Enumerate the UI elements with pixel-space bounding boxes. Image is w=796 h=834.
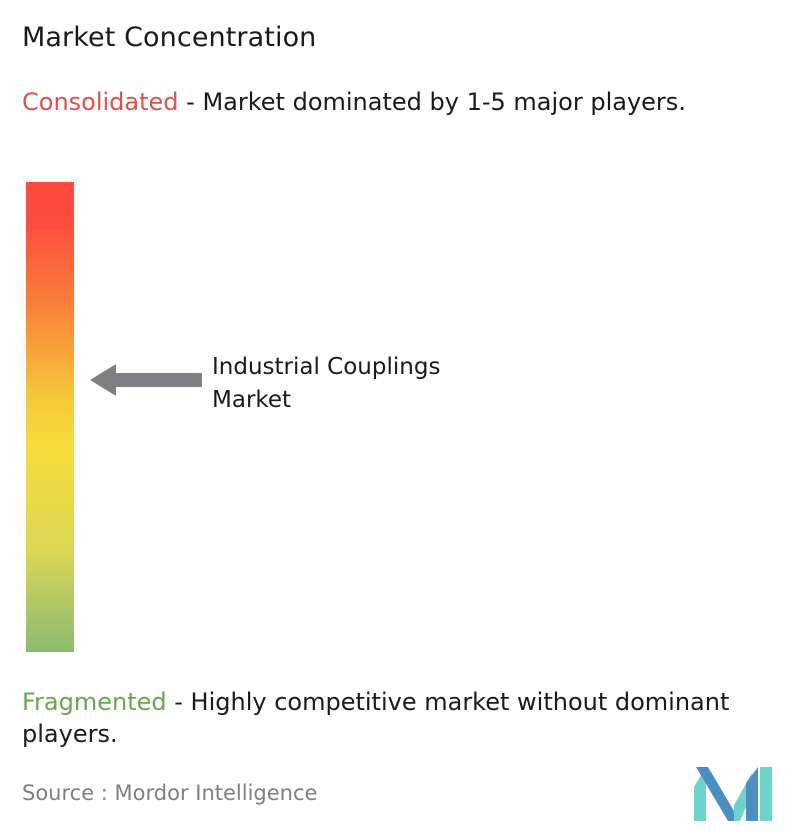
marker-left-arrow-icon (90, 362, 202, 398)
concentration-spectrum-bar (26, 182, 74, 652)
legend-consolidated: Consolidated - Market dominated by 1-5 m… (22, 86, 782, 118)
legend-fragmented-term: Fragmented (22, 688, 167, 716)
mordor-intelligence-logo-icon (694, 767, 772, 821)
page-title: Market Concentration (22, 21, 316, 55)
legend-fragmented: Fragmented - Highly competitive market w… (22, 686, 788, 750)
source-attribution: Source : Mordor Intelligence (22, 779, 317, 807)
marker-label: Industrial Couplings Market (212, 351, 440, 417)
legend-consolidated-description: - Market dominated by 1-5 major players. (179, 88, 686, 116)
legend-consolidated-term: Consolidated (22, 88, 179, 116)
market-concentration-chart: Market Concentration Consolidated - Mark… (0, 0, 796, 834)
